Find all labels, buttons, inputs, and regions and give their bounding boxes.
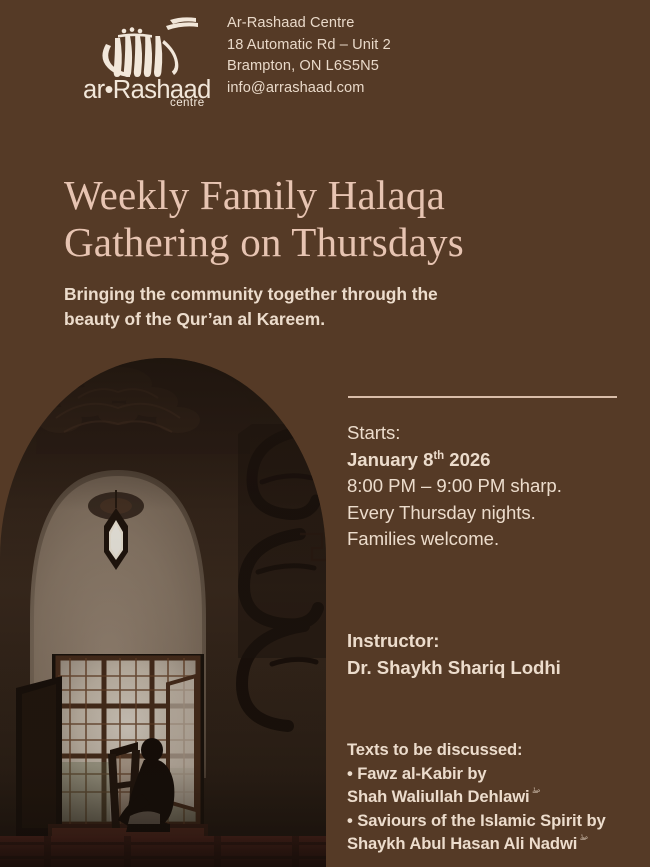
instructor-section: Instructor: Dr. Shaykh Shariq Lodhi <box>347 628 632 681</box>
text-item-2-author: Shaykh Abul Hasan Ali Nadwi <box>347 834 577 853</box>
poster-header: ar•Rashaad centre Ar-Rashaad Centre 18 A… <box>0 0 650 125</box>
subtitle-line-1: Bringing the community together through … <box>64 282 604 307</box>
starts-label: Starts: <box>347 420 632 447</box>
contact-info: Ar-Rashaad Centre 18 Automatic Rd – Unit… <box>227 13 487 99</box>
ar-rashaad-logo: ar•Rashaad centre <box>78 14 218 106</box>
event-date-ordinal: th <box>433 449 444 461</box>
event-details-column: Starts: January 8th 2026 8:00 PM – 9:00 … <box>347 390 632 553</box>
contact-line-name: Ar-Rashaad Centre <box>227 13 487 35</box>
title-line-2: Gathering on Thursdays <box>64 219 624 266</box>
contact-line-street: 18 Automatic Rd – Unit 2 <box>227 35 487 57</box>
event-date-year: 2026 <box>444 449 490 470</box>
ar-rashaad-calligraphy-logo-icon: ar•Rashaad centre <box>78 14 218 106</box>
event-frequency: Every Thursday nights. <box>347 500 632 527</box>
when-section: Starts: January 8th 2026 8:00 PM – 9:00 … <box>347 420 632 553</box>
page-title: Weekly Family Halaqa Gathering on Thursd… <box>64 172 624 266</box>
section-divider <box>348 396 617 398</box>
title-line-1: Weekly Family Halaqa <box>64 172 624 219</box>
mosque-interior-photo <box>0 358 326 867</box>
text-item-1-line-2: Shah Waliullah Dehlawiۖ <box>347 785 647 809</box>
instructor-name: Dr. Shaykh Shariq Lodhi <box>347 655 632 682</box>
contact-line-email[interactable]: info@arrashaad.com <box>227 78 487 100</box>
event-date: January 8th 2026 <box>347 447 632 474</box>
text-item-1-author: Shah Waliullah Dehlawi <box>347 787 530 806</box>
page-subtitle: Bringing the community together through … <box>64 282 604 332</box>
subtitle-line-2: beauty of the Qur’an al Kareem. <box>64 307 604 332</box>
event-audience: Families welcome. <box>347 526 632 553</box>
instructor-label: Instructor: <box>347 628 632 655</box>
texts-section: Texts to be discussed: • Fawz al-Kabir b… <box>347 738 647 856</box>
logo-sub-wordmark: centre <box>170 96 205 106</box>
text-item-1-line-1: • Fawz al-Kabir by <box>347 762 647 786</box>
event-time: 8:00 PM – 9:00 PM sharp. <box>347 473 632 500</box>
texts-heading: Texts to be discussed: <box>347 738 647 762</box>
event-date-monthday: January 8 <box>347 449 433 470</box>
text-item-2-line-1: • Saviours of the Islamic Spirit by <box>347 809 647 833</box>
mosque-interior-illustration <box>0 358 326 867</box>
contact-line-city: Brampton, ON L6S5N5 <box>227 56 487 78</box>
text-item-2-line-2: Shaykh Abul Hasan Ali Nadwiۖ <box>347 832 647 856</box>
event-poster: ar•Rashaad centre Ar-Rashaad Centre 18 A… <box>0 0 650 867</box>
